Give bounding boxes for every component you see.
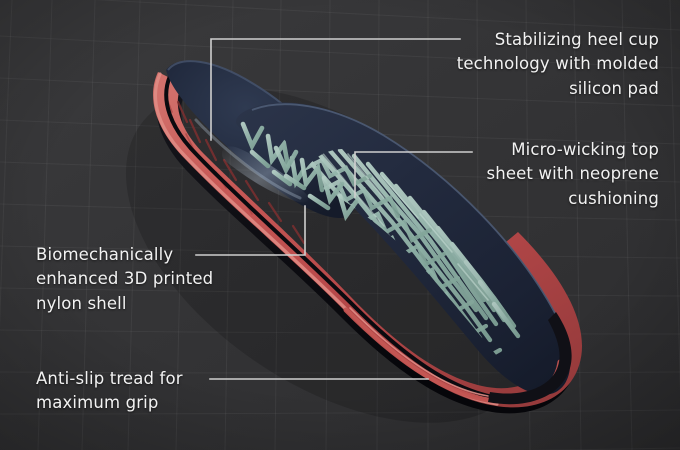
callout-heel-cup: Stabilizing heel cup technology with mol… (389, 28, 659, 101)
insole-feature-diagram: Stabilizing heel cup technology with mol… (0, 0, 680, 450)
callout-nylon-shell: Biomechanically enhanced 3D printed nylo… (36, 243, 266, 316)
callout-anti-slip-tread: Anti-slip tread for maximum grip (36, 367, 236, 416)
callout-top-sheet: Micro-wicking top sheet with neoprene cu… (389, 138, 659, 211)
